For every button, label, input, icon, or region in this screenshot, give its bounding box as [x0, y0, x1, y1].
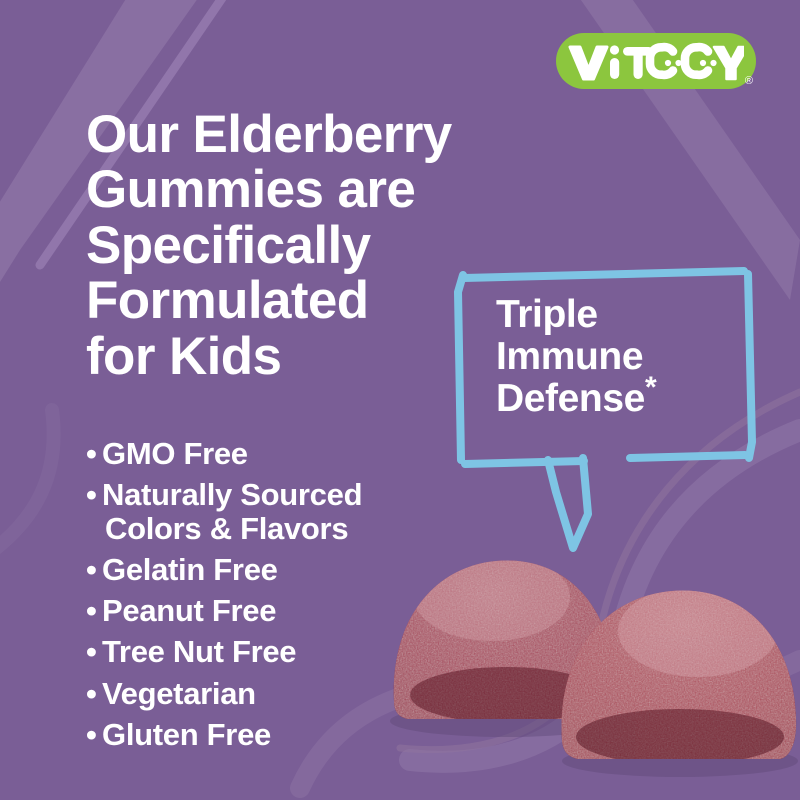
bubble-line-3: Defense*	[496, 378, 746, 420]
speech-bubble: Triple Immune Defense*	[452, 262, 762, 552]
list-item-label: Vegetarian	[102, 677, 416, 711]
list-item: • Tree Nut Free	[86, 635, 416, 669]
marketing-image-canvas: ® Our Elderberry Gummies are Specificall…	[0, 0, 800, 800]
list-item: • Naturally Sourced Colors & Flavors	[86, 478, 416, 546]
bullet-dot-icon: •	[86, 718, 97, 752]
list-item-label: Gluten Free	[102, 718, 416, 752]
bullet-dot-icon: •	[86, 677, 97, 711]
speech-bubble-text: Triple Immune Defense*	[496, 294, 746, 420]
headline-line-1: Our Elderberry	[86, 107, 536, 162]
viteey-wordmark-logo	[568, 41, 744, 81]
bubble-line-1: Triple	[496, 294, 746, 336]
bullet-dot-icon: •	[86, 553, 97, 587]
bullet-dot-icon: •	[86, 478, 97, 512]
product-benefits-list: • GMO Free • Naturally Sourced Colors & …	[86, 437, 416, 759]
list-item: • Vegetarian	[86, 677, 416, 711]
brand-logo[interactable]: ®	[556, 33, 756, 89]
bubble-line-2: Immune	[496, 336, 746, 378]
bullet-dot-icon: •	[86, 437, 97, 471]
list-item-label: GMO Free	[102, 437, 416, 471]
list-item: • Peanut Free	[86, 594, 416, 628]
list-item: • Gluten Free	[86, 718, 416, 752]
registered-trademark-symbol: ®	[745, 76, 753, 87]
footnote-asterisk: *	[645, 371, 656, 404]
list-item-label: Gelatin Free	[102, 553, 416, 587]
list-item: • Gelatin Free	[86, 553, 416, 587]
list-item-label: Naturally Sourced	[102, 478, 416, 512]
list-item-label: Tree Nut Free	[102, 635, 416, 669]
list-item-label: Peanut Free	[102, 594, 416, 628]
list-item: • GMO Free	[86, 437, 416, 471]
list-item-label-wrap: Colors & Flavors	[102, 512, 416, 546]
bullet-dot-icon: •	[86, 635, 97, 669]
bullet-dot-icon: •	[86, 594, 97, 628]
bubble-line-3-text: Defense	[496, 377, 645, 420]
headline-line-2: Gummies are	[86, 162, 536, 217]
